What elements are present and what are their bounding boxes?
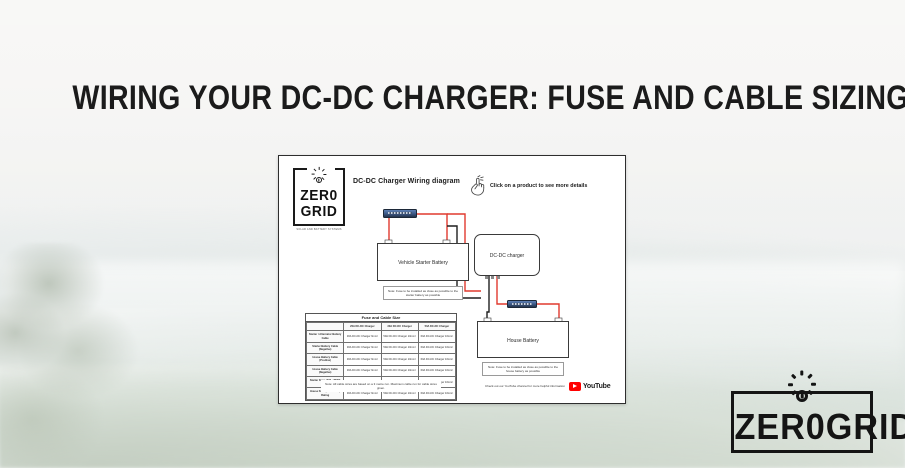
fuse-table-cell: 50A DC-DC Charger 10mm² [381, 365, 418, 376]
fuse-holder-house[interactable] [507, 300, 537, 308]
youtube-badge[interactable]: YouTube [569, 382, 611, 391]
page-title: WIRING YOUR DC-DC CHARGER: FUSE AND CABL… [72, 78, 832, 118]
fuse-table-cell: 30A DC-DC Charger 6mm² [344, 331, 381, 342]
brand-logo[interactable]: ZER0GRID [731, 391, 873, 453]
fuse-table-header-cell: 20A DC-DC Charger [344, 323, 381, 331]
device-house-battery[interactable]: House Battery [477, 321, 569, 358]
fuse-table-header-cell: 50A DC-DC Charger [418, 323, 455, 331]
device-house-battery-label: House Battery [478, 338, 568, 344]
fuse-table-cell: 50A DC-DC Charger 10mm² [381, 354, 418, 365]
fuse-table-row-label: House Battery Cable (Positive) [307, 354, 344, 365]
fuse-holder-top[interactable] [383, 209, 417, 218]
fuse-table-cell: 60A DC-DC Charger 16mm² [418, 354, 455, 365]
hero-banner: WIRING YOUR DC-DC CHARGER: FUSE AND CABL… [0, 0, 905, 468]
note-house-fuse: Note: Fuse to be installed as close as p… [482, 362, 564, 376]
wiring-diagram-card[interactable]: ZER0 GRID SOLAR AND BATTERY SYSTEMS DC-D… [278, 155, 626, 404]
fuse-table-header-cell [307, 323, 344, 331]
fuse-table-cell: 30A DC-DC Charger 6mm² [344, 342, 381, 353]
fuse-table-row-label: House Battery Cable (Negative) [307, 365, 344, 376]
note-starter-fuse: Note: Fuse to be installed as close as p… [383, 286, 463, 300]
device-dcdc-charger[interactable]: DC-DC charger [474, 234, 540, 276]
youtube-callout-text: Check out our YouTube channel for more h… [485, 384, 565, 388]
youtube-play-icon [569, 382, 581, 391]
fuse-table-row: House Battery Cable (Positive)30A DC-DC … [307, 354, 456, 365]
fuse-table-header-row: 20A DC-DC Charger30A DC-DC Charger50A DC… [307, 323, 456, 331]
youtube-label: YouTube [583, 383, 611, 390]
fuse-cable-size-table-title: Fuse and Cable Size [306, 314, 456, 322]
fuse-table-row: Starter / Alternator Battery Cable30A DC… [307, 331, 456, 342]
fuse-table-row-label: Starter / Alternator Battery Cable [307, 331, 344, 342]
fuse-table-cell: 60A DC-DC Charger 16mm² [418, 365, 455, 376]
fuse-table-row: Starter Battery Cable (Negative)30A DC-D… [307, 342, 456, 353]
fuse-table-cell: 50A DC-DC Charger 10mm² [381, 331, 418, 342]
fuse-table-cell: 50A DC-DC Charger 10mm² [381, 342, 418, 353]
device-dcdc-charger-label: DC-DC charger [475, 253, 539, 259]
fuse-table-cell: 30A DC-DC Charger 6mm² [344, 354, 381, 365]
brand-logo-wordmark: ZER0GRID [735, 407, 870, 447]
device-starter-battery[interactable]: Vehicle Starter Battery [377, 243, 469, 281]
fuse-table-row-label: Starter Battery Cable (Negative) [307, 342, 344, 353]
fuse-table-cell: 30A DC-DC Charger 6mm² [344, 365, 381, 376]
fuse-table-cell: 60A DC-DC Charger 16mm² [418, 331, 455, 342]
note-table: Note: All cable sizes are based on a 3 m… [321, 380, 441, 392]
youtube-callout[interactable]: Check out our YouTube channel for more h… [485, 382, 610, 391]
device-starter-battery-label: Vehicle Starter Battery [378, 260, 468, 266]
fuse-table-cell: 60A DC-DC Charger 16mm² [418, 342, 455, 353]
fuse-table-row: House Battery Cable (Negative)30A DC-DC … [307, 365, 456, 376]
fuse-table-header-cell: 30A DC-DC Charger [381, 323, 418, 331]
